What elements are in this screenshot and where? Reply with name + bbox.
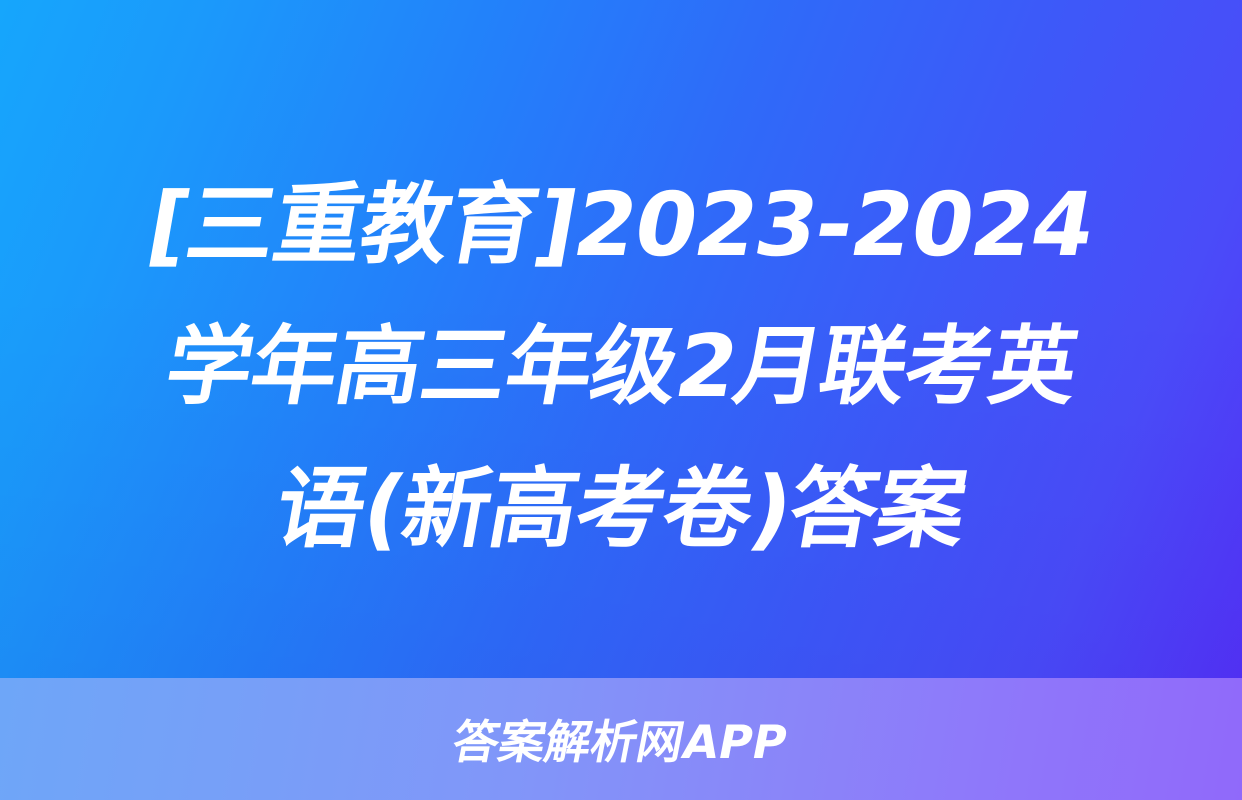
answer-cover-card: [三重教育]2023-2024 学年高三年级2月联考英 语(新高考卷)答案 答案… xyxy=(0,0,1242,800)
title-line-3: 语(新高考卷)答案 xyxy=(265,438,977,580)
title-line-2: 学年高三年级2月联考英 xyxy=(154,296,1088,438)
title-line-1: [三重教育]2023-2024 xyxy=(137,154,1106,296)
title-block: [三重教育]2023-2024 学年高三年级2月联考英 语(新高考卷)答案 xyxy=(0,0,1242,678)
footer-band: 答案解析网APP xyxy=(0,678,1242,800)
app-wordmark: 答案解析网APP xyxy=(448,706,794,772)
